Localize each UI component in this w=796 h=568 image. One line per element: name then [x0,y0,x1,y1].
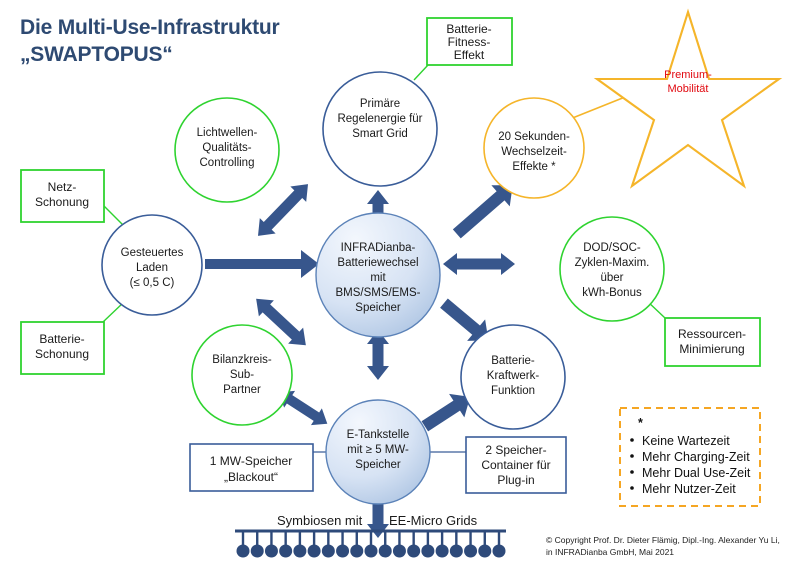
node-center-line-3: mit [370,272,386,284]
node-batterie-kraftwerk[interactable]: Batterie- Kraftwerk- Funktion [461,325,565,429]
node-primaere[interactable]: Primäre Regelenergie für Smart Grid [323,72,437,186]
diagram-svg: Primäre Regelenergie für Smart Grid Lich… [0,0,796,568]
node-primaere-line-3: Smart Grid [352,128,408,140]
legend-item-2: Mehr Dual Use-Zeit [642,466,751,480]
arrow-gesteuertes-center [205,250,319,278]
node-etankstelle-line-2: mit ≥ 5 MW- [347,444,409,456]
node-bilanzkreis-line-1: Bilanzkreis- [212,354,272,366]
box-fitness-line-2: Fitness- [448,35,491,49]
node-dodsoc-line-4: kWh-Bonus [582,287,642,299]
microgrid-comb: Symbiosen mit EE-Micro Grids [235,513,506,558]
comb-node [251,545,264,558]
node-bilanzkreis-line-3: Partner [223,384,261,396]
node-sekunden-line-2: Wechselzeit- [501,146,567,158]
box-netz-schonung[interactable]: Netz- Schonung [21,170,104,222]
legend-marker: * [638,416,643,430]
node-dodsoc[interactable]: DOD/SOC- Zyklen-Maxim. über kWh-Bonus [560,217,664,321]
node-lichtwellen[interactable]: Lichtwellen- Qualitäts- Controlling [175,98,279,202]
comb-node [421,545,434,558]
comb-node [365,545,378,558]
node-primaere-line-2: Regelenergie für [337,113,422,125]
box-fitness-line-1: Batterie- [446,22,491,36]
comb-node [293,545,306,558]
node-dodsoc-line-3: über [600,272,623,284]
node-center-line-2: Batteriewechsel [337,257,418,269]
comb-node [336,545,349,558]
node-primaere-line-1: Primäre [360,98,400,110]
legend-box[interactable]: * Keine Wartezeit Mehr Charging-Zeit Meh… [620,408,760,506]
box-ressourcen-minimierung[interactable]: Ressourcen- Minimierung [665,318,760,366]
node-dodsoc-line-2: Zyklen-Maxim. [575,257,650,269]
comb-node [237,545,250,558]
comb-node [393,545,406,558]
box-ressourcen-line-2: Minimierung [679,342,744,356]
box-container-line-3: Plug-in [497,473,534,487]
comb-label-right: EE-Micro Grids [389,513,478,528]
box-batterie-schonung[interactable]: Batterie- Schonung [21,322,104,374]
box-container-line-2: Container für [481,458,550,472]
comb-node [279,545,292,558]
comb-node [322,545,335,558]
comb-node [478,545,491,558]
node-lichtwellen-line-2: Qualitäts- [202,142,251,154]
comb-node [464,545,477,558]
comb-node [379,545,392,558]
premium-mobility-star[interactable]: Premium- Mobilität [597,12,779,186]
box-speicher-container[interactable]: 2 Speicher- Container für Plug-in [466,437,566,493]
box-mw-speicher[interactable]: 1 MW-Speicher „Blackout“ [190,444,313,491]
box-mw-line-1: 1 MW-Speicher [210,454,292,468]
comb-teeth [237,531,506,558]
copyright-notice: © Copyright Prof. Dr. Dieter Flämig, Dip… [546,534,796,558]
comb-node [265,545,278,558]
star-line-2: Mobilität [668,83,709,95]
diagram-canvas: Die Multi-Use-Infrastruktur „SWAPTOPUS“ [0,0,796,568]
node-kraftwerk-line-2: Kraftwerk- [487,370,540,382]
node-gesteuertes-line-1: Gesteuertes [121,247,184,259]
comb-label-left: Symbiosen mit [277,513,363,528]
box-batt-schon-line-1: Batterie- [39,332,84,346]
legend-bullet-0 [630,438,634,442]
legend-bullet-2 [630,470,634,474]
node-bilanzkreis-line-2: Sub- [230,369,254,381]
box-batterie-fitness[interactable]: Batterie- Fitness- Effekt [427,18,512,65]
node-kraftwerk-line-3: Funktion [491,385,535,397]
box-netz-line-2: Schonung [35,195,89,209]
node-center-line-5: Speicher [355,302,401,314]
legend-item-1: Mehr Charging-Zeit [642,450,750,464]
comb-node [350,545,363,558]
node-center-line-1: INFRADianba- [341,242,416,254]
box-container-line-1: 2 Speicher- [485,443,546,457]
copyright-line-1: © Copyright Prof. Dr. Dieter Flämig, Dip… [546,534,796,546]
node-center-infradianba[interactable]: INFRADianba- Batteriewechsel mit BMS/SMS… [316,213,440,337]
legend-bullet-3 [630,486,634,490]
node-gesteuertes-line-2: Laden [136,262,168,274]
box-ressourcen-line-1: Ressourcen- [678,327,746,341]
arrow-center-dodsoc [443,253,515,275]
comb-node [450,545,463,558]
box-batt-schon-line-2: Schonung [35,347,89,361]
copyright-line-2: in INFRADianba GmbH, Mai 2021 [546,546,796,558]
node-center-line-4: BMS/SMS/EMS- [336,287,421,299]
legend-item-0: Keine Wartezeit [642,434,730,448]
node-gesteuertes-line-3: (≤ 0,5 C) [130,277,175,289]
node-kraftwerk-line-1: Batterie- [491,355,535,367]
comb-node [308,545,321,558]
comb-node [407,545,420,558]
box-netz-line-1: Netz- [48,180,77,194]
connector-batterie-fitness [414,65,428,80]
legend-item-3: Mehr Nutzer-Zeit [642,482,736,496]
node-lichtwellen-line-3: Controlling [200,157,255,169]
star-line-1: Premium- [664,69,712,81]
node-bilanzkreis[interactable]: Bilanzkreis- Sub- Partner [192,325,292,425]
box-mw-line-2: „Blackout“ [224,470,278,484]
legend-bullet-1 [630,454,634,458]
node-dodsoc-line-1: DOD/SOC- [583,242,641,254]
node-etankstelle[interactable]: E-Tankstelle mit ≥ 5 MW- Speicher [326,400,430,504]
node-etankstelle-line-3: Speicher [355,459,401,471]
node-sekunden[interactable]: 20 Sekunden- Wechselzeit- Effekte * [484,98,584,198]
node-etankstelle-line-1: E-Tankstelle [347,429,410,441]
node-sekunden-line-3: Effekte * [512,161,556,173]
node-sekunden-line-1: 20 Sekunden- [498,131,570,143]
node-gesteuertes-laden[interactable]: Gesteuertes Laden (≤ 0,5 C) [102,215,202,315]
comb-node [436,545,449,558]
node-lichtwellen-line-1: Lichtwellen- [197,127,258,139]
comb-node [493,545,506,558]
box-fitness-line-3: Effekt [454,48,485,62]
